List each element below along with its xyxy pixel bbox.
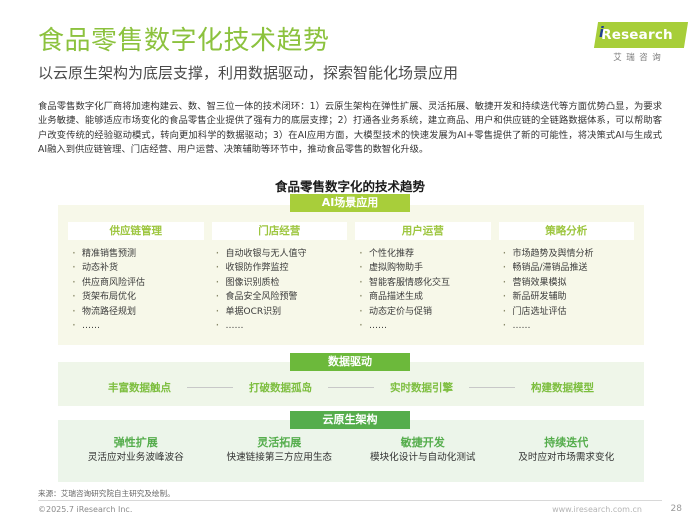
cloud-column-header: 弹性扩展 [64, 435, 208, 450]
list-item: …… [355, 319, 491, 333]
iresearch-logo: i Research 艾瑞咨询 [588, 22, 686, 70]
list-item: …… [68, 319, 204, 333]
cloud-column-agile-development: 敏捷开发 模块化设计与自动化测试 [351, 435, 495, 479]
data-connector-line [469, 387, 515, 388]
ai-column-header: 用户运营 [355, 222, 491, 240]
cloud-column-desc: 模块化设计与自动化测试 [351, 450, 495, 465]
list-item: 供应商风险评估 [68, 276, 204, 290]
data-connector-line [187, 387, 233, 388]
ai-section-pill: AI场景应用 [290, 194, 410, 212]
cloud-column-desc: 及时应对市场需求变化 [495, 450, 639, 465]
list-item: 精准销售预测 [68, 247, 204, 261]
ai-column-list: 自动收银与无人值守 收银防作弊监控 图像识别质检 食品安全风险预警 单据OCR识… [212, 247, 348, 333]
list-item: 个性化推荐 [355, 247, 491, 261]
ai-column-strategy-analysis: 策略分析 市场趋势及舆情分析 畅销品/滞销品推送 营销效果模拟 新品研发辅助 门… [499, 222, 635, 342]
cloud-section-pill: 云原生架构 [290, 411, 410, 429]
body-paragraph: 食品零售数字化厂商将加速构建云、数、智三位一体的技术闭环：1）云原生架构在弹性扩… [38, 100, 662, 158]
footer-divider [38, 500, 662, 501]
cloud-column-desc: 快速链接第三方应用生态 [208, 450, 352, 465]
footer-url: www.iresearch.com.cn [552, 505, 642, 514]
list-item: 畅销品/滞销品推送 [499, 261, 635, 275]
cloud-column-elastic-scaling: 弹性扩展 灵活应对业务波峰波谷 [64, 435, 208, 479]
ai-column-user-operations: 用户运营 个性化推荐 虚拟购物助手 智能客服情感化交互 商品描述生成 动态定价与… [355, 222, 491, 342]
logo-chinese-name: 艾瑞咨询 [588, 51, 686, 63]
cloud-column-flexible-extension: 灵活拓展 快速链接第三方应用生态 [208, 435, 352, 479]
list-item: …… [499, 319, 635, 333]
ai-column-header: 门店经营 [212, 222, 348, 240]
list-item: 图像识别质检 [212, 276, 348, 290]
list-item: 市场趋势及舆情分析 [499, 247, 635, 261]
data-item: 打破数据孤岛 [249, 380, 312, 395]
page-title: 食品零售数字化技术趋势 [38, 26, 330, 56]
ai-column-supply-chain: 供应链管理 精准销售预测 动态补货 供应商风险评估 货架布局优化 物流路径规划 … [68, 222, 204, 342]
ai-column-list: 市场趋势及舆情分析 畅销品/滞销品推送 营销效果模拟 新品研发辅助 门店选址评估… [499, 247, 635, 333]
data-item: 丰富数据触点 [108, 380, 171, 395]
data-item: 实时数据引擎 [390, 380, 453, 395]
list-item: …… [212, 319, 348, 333]
cloud-column-header: 敏捷开发 [351, 435, 495, 450]
source-note: 来源：艾瑞咨询研究院自主研究及绘制。 [38, 488, 175, 499]
list-item: 食品安全风险预警 [212, 290, 348, 304]
figure-title: 食品零售数字化的技术趋势 [0, 176, 700, 195]
data-item: 构建数据模型 [531, 380, 594, 395]
list-item: 虚拟购物助手 [355, 261, 491, 275]
cloud-column-continuous-iteration: 持续迭代 及时应对市场需求变化 [495, 435, 639, 479]
list-item: 营销效果模拟 [499, 276, 635, 290]
list-item: 自动收银与无人值守 [212, 247, 348, 261]
page-number: 28 [671, 504, 682, 514]
ai-column-list: 个性化推荐 虚拟购物助手 智能客服情感化交互 商品描述生成 动态定价与促销 …… [355, 247, 491, 333]
list-item: 单据OCR识别 [212, 305, 348, 319]
list-item: 动态定价与促销 [355, 305, 491, 319]
cloud-columns: 弹性扩展 灵活应对业务波峰波谷 灵活拓展 快速链接第三方应用生态 敏捷开发 模块… [58, 435, 644, 479]
list-item: 智能客服情感化交互 [355, 276, 491, 290]
list-item: 动态补货 [68, 261, 204, 275]
ai-column-header: 供应链管理 [68, 222, 204, 240]
list-item: 物流路径规划 [68, 305, 204, 319]
data-connector-line [328, 387, 374, 388]
slide-page: 食品零售数字化技术趋势 以云原生架构为底层支撑，利用数据驱动，探索智能化场景应用… [0, 0, 700, 524]
list-item: 商品描述生成 [355, 290, 491, 304]
cloud-column-header: 灵活拓展 [208, 435, 352, 450]
copyright-text: ©2025.7 iResearch Inc. [38, 505, 132, 514]
ai-column-store-operations: 门店经营 自动收银与无人值守 收银防作弊监控 图像识别质检 食品安全风险预警 单… [212, 222, 348, 342]
list-item: 新品研发辅助 [499, 290, 635, 304]
ai-column-list: 精准销售预测 动态补货 供应商风险评估 货架布局优化 物流路径规划 …… [68, 247, 204, 333]
data-section-pill: 数据驱动 [290, 353, 410, 371]
ai-columns: 供应链管理 精准销售预测 动态补货 供应商风险评估 货架布局优化 物流路径规划 … [58, 222, 644, 342]
slide-header: 食品零售数字化技术趋势 以云原生架构为底层支撑，利用数据驱动，探索智能化场景应用… [0, 0, 700, 96]
ai-column-header: 策略分析 [499, 222, 635, 240]
cloud-column-desc: 灵活应对业务波峰波谷 [64, 450, 208, 465]
logo-i-mark: i [599, 25, 604, 41]
list-item: 收银防作弊监控 [212, 261, 348, 275]
list-item: 门店选址评估 [499, 305, 635, 319]
page-subtitle: 以云原生架构为底层支撑，利用数据驱动，探索智能化场景应用 [38, 64, 458, 83]
data-section-items: 丰富数据触点 打破数据孤岛 实时数据引擎 构建数据模型 [58, 378, 644, 396]
list-item: 货架布局优化 [68, 290, 204, 304]
cloud-column-header: 持续迭代 [495, 435, 639, 450]
